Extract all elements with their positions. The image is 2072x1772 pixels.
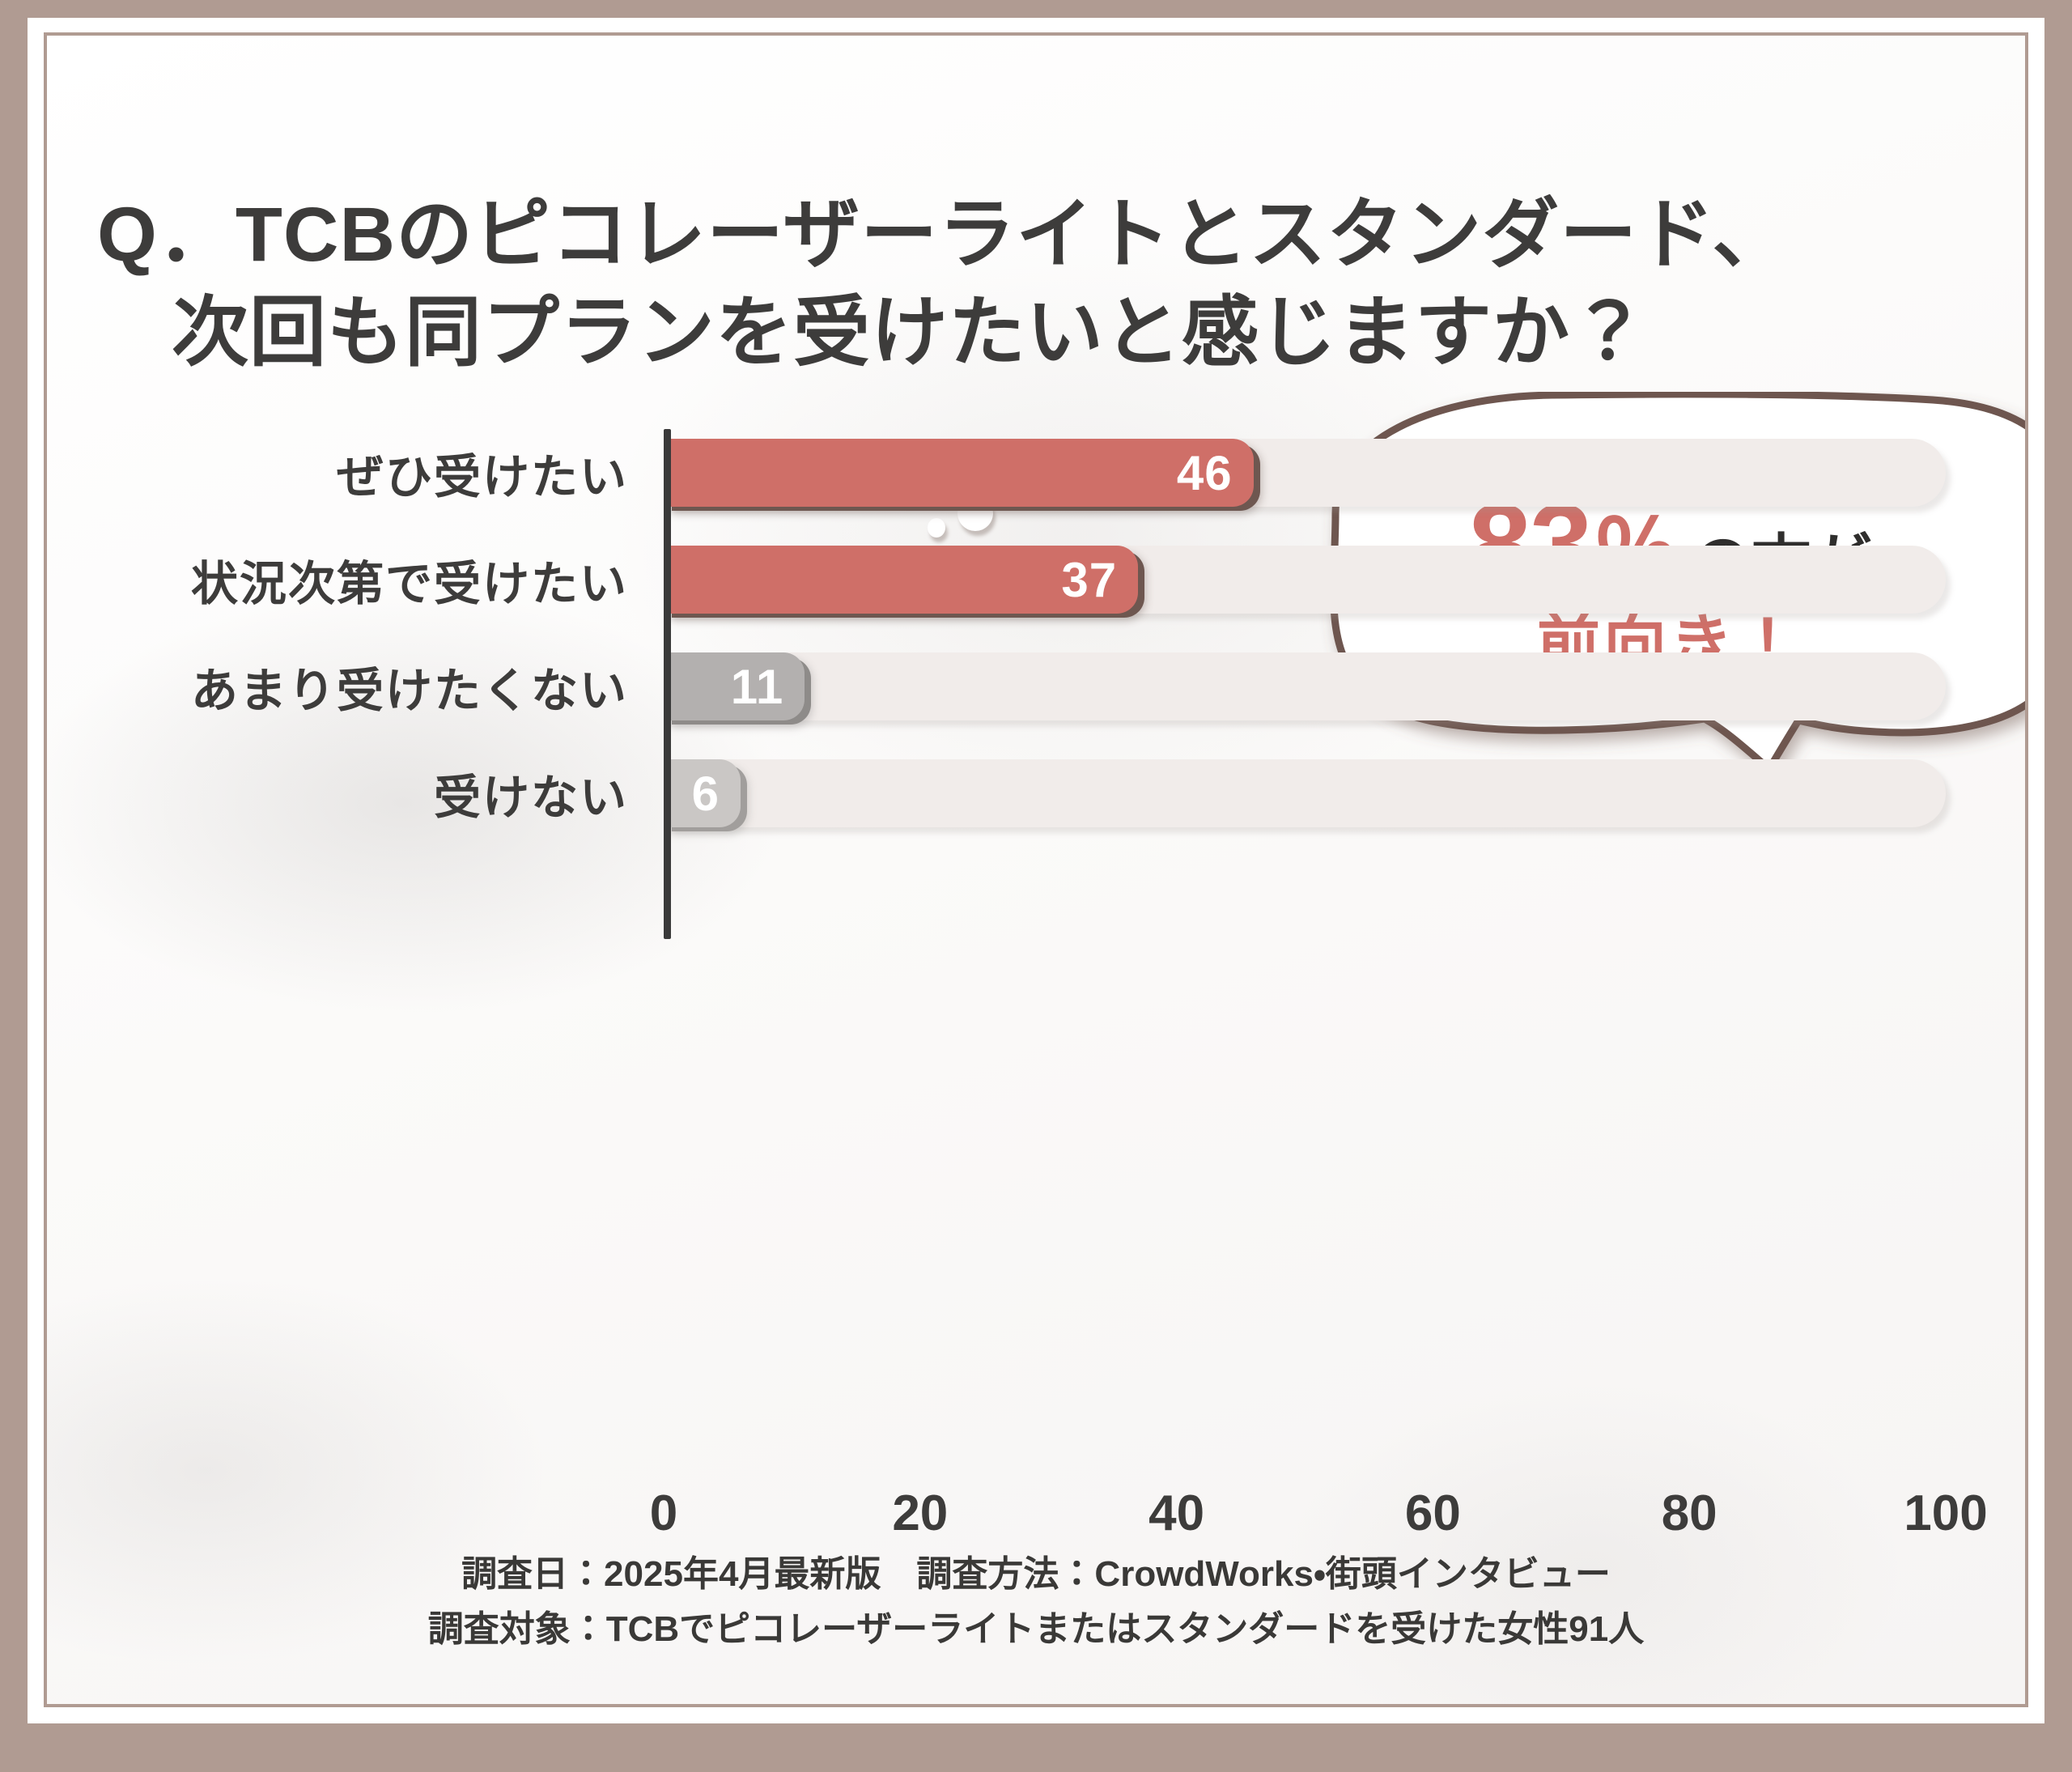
- bar-rows: ぜひ受けたい 46 状況次第で受けたい 37: [47, 429, 2025, 939]
- survey-footnote: 調査日：2025年4月最新版 調査方法：CrowdWorks・街頭インタビュー …: [47, 1547, 2025, 1657]
- poster-canvas: Q．TCBのピコレーザーライトとスタンダード、 次回も同プランを受けたいと感じま…: [47, 36, 2025, 1704]
- category-label-2: あまり受けたくない: [47, 652, 664, 720]
- x-axis-tick-80: 80: [1662, 1485, 1717, 1542]
- bar-value-3: 6: [692, 766, 720, 822]
- poster-inner-frame: Q．TCBのピコレーザーライトとスタンダード、 次回も同プランを受けたいと感じま…: [44, 32, 2028, 1707]
- bar-value-0: 46: [1177, 445, 1233, 501]
- bar-row: あまり受けたくない 11: [47, 651, 2025, 722]
- x-axis-tick-20: 20: [892, 1485, 948, 1542]
- bar-row: 受けない 6: [47, 758, 2025, 829]
- category-label-1: 状況次第で受けたい: [47, 546, 664, 614]
- x-axis-tick-100: 100: [1904, 1485, 1987, 1542]
- bar-track-3: 6: [664, 759, 1946, 827]
- bar-track-0: 46: [664, 439, 1946, 507]
- bar-1: 37: [664, 546, 1138, 614]
- bar-chart: ぜひ受けたい 46 状況次第で受けたい 37: [47, 429, 2025, 939]
- poster-outer-frame: Q．TCBのピコレーザーライトとスタンダード、 次回も同プランを受けたいと感じま…: [0, 0, 2072, 1772]
- x-axis-tick-40: 40: [1149, 1485, 1204, 1542]
- category-label-3: 受けない: [47, 759, 664, 827]
- bar-value-2: 11: [731, 659, 783, 715]
- bar-3: 6: [664, 759, 741, 827]
- bar-row: 状況次第で受けたい 37: [47, 544, 2025, 615]
- y-axis-line: [664, 429, 671, 939]
- bar-track-1: 37: [664, 546, 1946, 614]
- bar-row: ぜひ受けたい 46: [47, 437, 2025, 508]
- title-line-1: Q．TCBのピコレーザーライトとスタンダード、: [97, 192, 1790, 278]
- x-axis-tick-0: 0: [650, 1485, 677, 1542]
- footnote-line-1: 調査日：2025年4月最新版 調査方法：CrowdWorks・街頭インタビュー: [47, 1547, 2025, 1602]
- category-label-0: ぜひ受けたい: [47, 439, 664, 507]
- bar-0: 46: [664, 439, 1254, 507]
- bar-2: 11: [664, 652, 805, 720]
- bar-value-1: 37: [1061, 552, 1117, 608]
- footnote-line-2: 調査対象：TCBでピコレーザーライトまたはスタンダードを受けた女性91人: [47, 1602, 2025, 1657]
- bar-track-2: 11: [664, 652, 1946, 720]
- title-line-2: 次回も同プランを受けたいと感じますか？: [97, 284, 2025, 383]
- x-axis-tick-60: 60: [1405, 1485, 1461, 1542]
